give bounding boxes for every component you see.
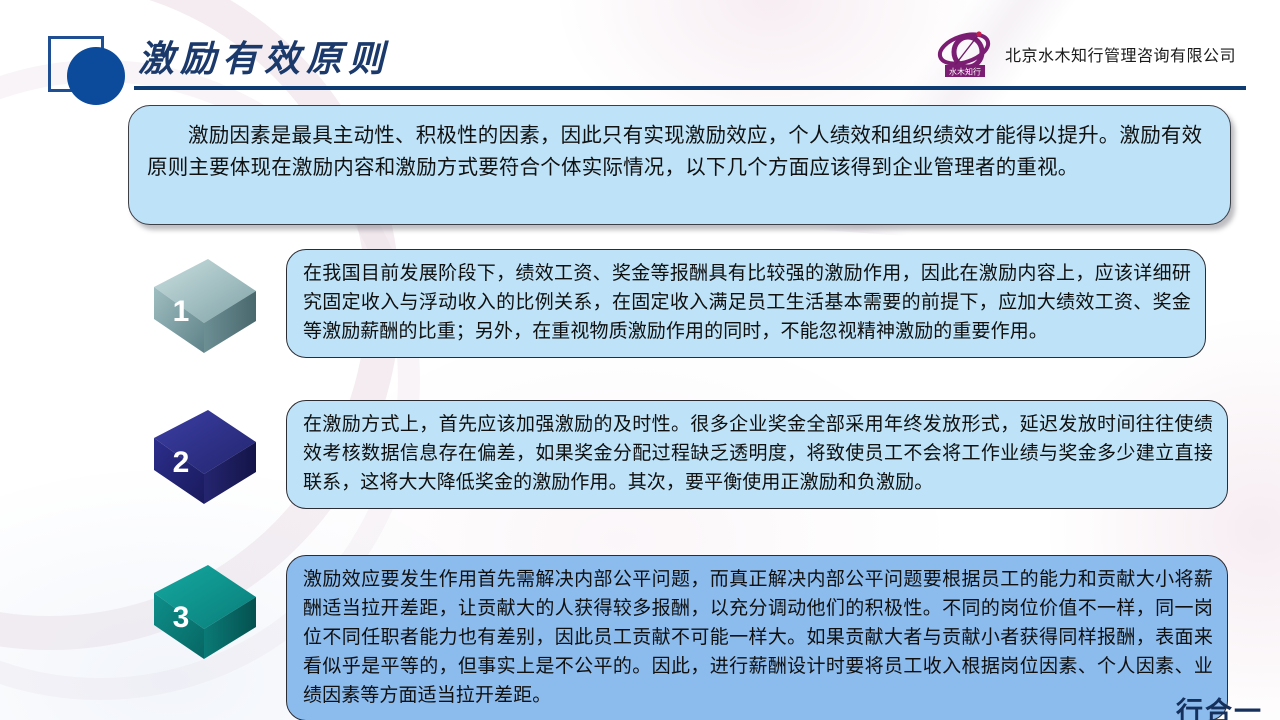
cube-number-label-2: 2 (173, 446, 190, 479)
point-text-2: 在激励方式上，首先应该加强激励的及时性。很多企业奖金全部采用年终发放形式，延迟发… (303, 411, 1213, 498)
cube-number-label-1: 1 (173, 295, 190, 328)
number-cube-3: 3 (146, 555, 264, 667)
title-divider (134, 86, 1246, 90)
point-text-1: 在我国目前发展阶段下，绩效工资、奖金等报酬具有比较强的激励作用，因此在激励内容上… (303, 260, 1191, 347)
company-swirl-icon: 水木知行 (933, 29, 995, 79)
point-bubble-2: 在激励方式上，首先应该加强激励的及时性。很多企业奖金全部采用年终发放形式，延迟发… (286, 400, 1228, 509)
point-bubble-1: 在我国目前发展阶段下，绩效工资、奖金等报酬具有比较强的激励作用，因此在激励内容上… (286, 249, 1206, 358)
intro-callout: 激励因素是最具主动性、积极性的因素，因此只有实现激励效应，个人绩效和组织绩效才能… (128, 105, 1231, 225)
page-title: 激励有效原则 (138, 30, 390, 82)
cube-number-label-3: 3 (173, 601, 190, 634)
slide-canvas: 激励有效原则 水木知行 北京水木知行管理咨询有限公司 激励因素是最具主动性、积极… (0, 0, 1280, 720)
logo-banner-text: 水木知行 (949, 67, 981, 77)
cube-icon-2: 2 (146, 400, 264, 512)
point-text-3: 激励效应要发生作用首先需解决内部公平问题，而真正解决内部公平问题要根据员工的能力… (303, 566, 1213, 710)
cube-icon-3: 3 (146, 555, 264, 667)
company-name: 北京水木知行管理咨询有限公司 (1005, 42, 1236, 66)
footer-clipped-text: 行合一 (1176, 690, 1263, 720)
intro-text: 激励因素是最具主动性、积极性的因素，因此只有实现激励效应，个人绩效和组织绩效才能… (147, 120, 1214, 184)
number-cube-1: 1 (146, 249, 264, 361)
circle-dot-logo (67, 47, 125, 105)
cube-icon-1: 1 (146, 249, 264, 361)
number-cube-2: 2 (146, 400, 264, 512)
point-bubble-3: 激励效应要发生作用首先需解决内部公平问题，而真正解决内部公平问题要根据员工的能力… (286, 555, 1228, 720)
company-branding: 水木知行 北京水木知行管理咨询有限公司 (933, 28, 1236, 80)
